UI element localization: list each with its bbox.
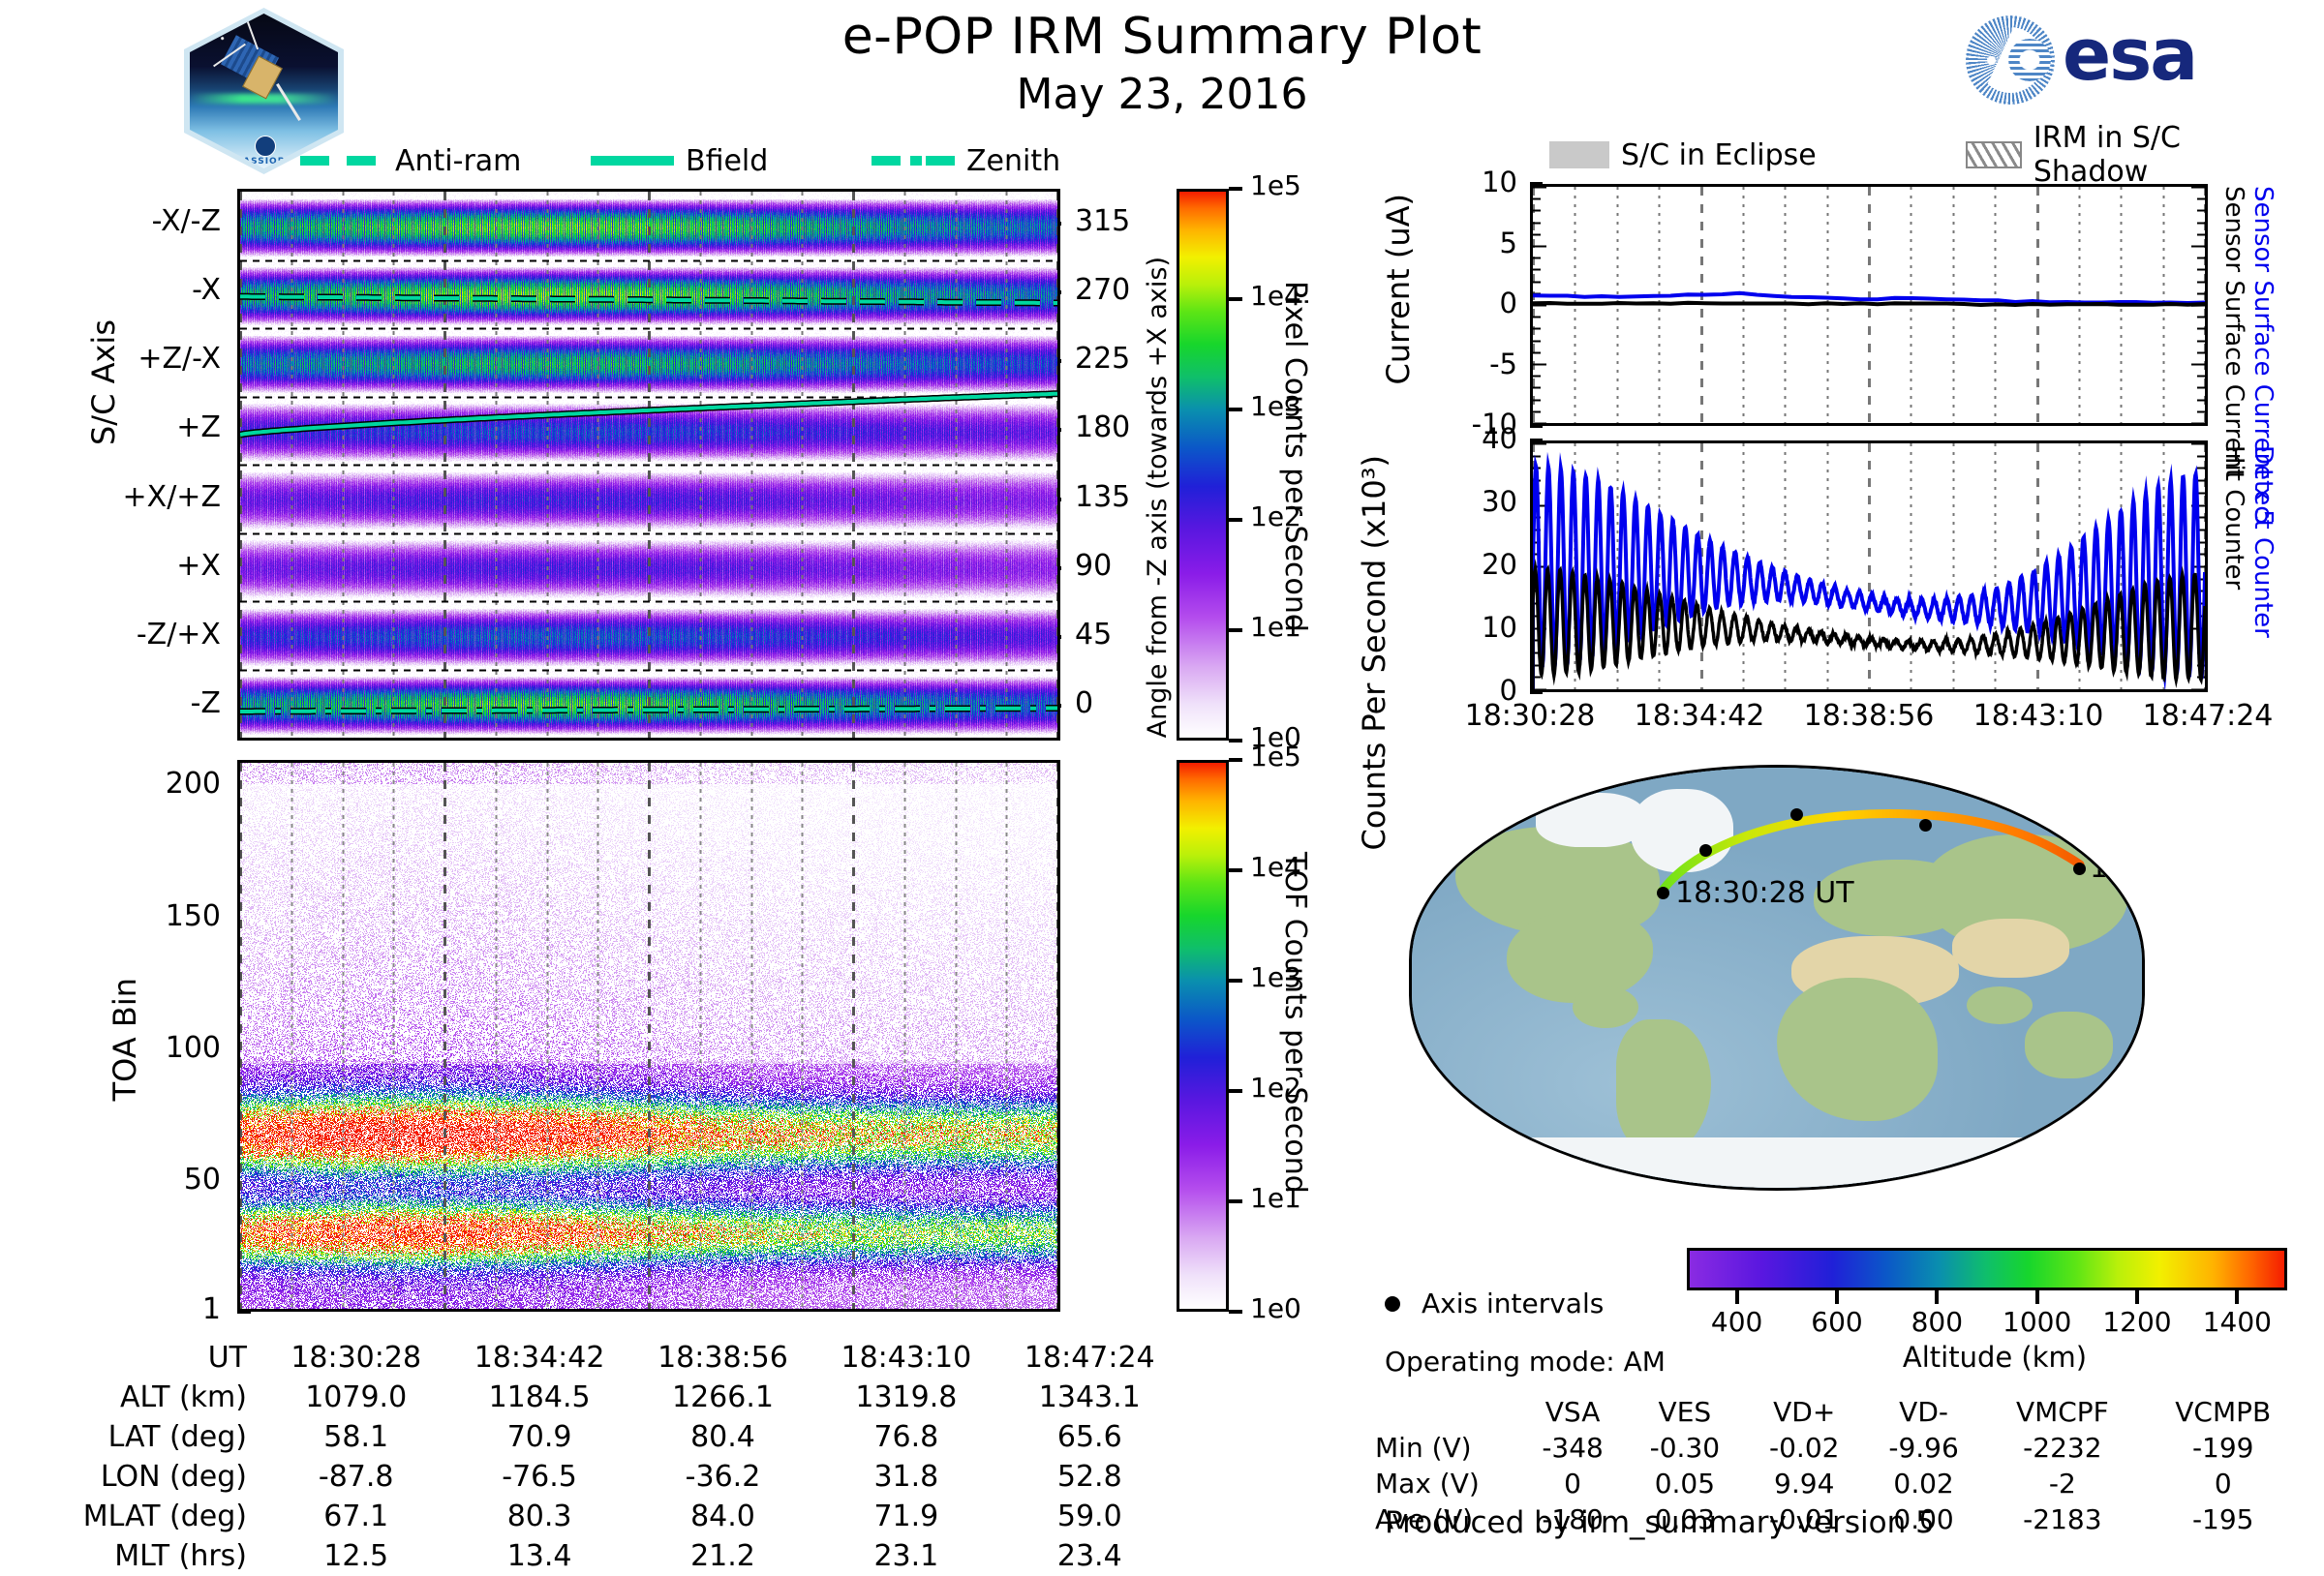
toa-ytick: 100 — [0, 1031, 221, 1065]
pixel-counts-colorbar-label: Pixel Counts per Second — [1278, 281, 1312, 632]
spectrogram-ytick-left: -X/-Z — [0, 204, 221, 238]
table-cell: 13.4 — [447, 1536, 630, 1576]
tof-counts-colorbar-label: TOF Counts per Second — [1278, 852, 1312, 1194]
colorbar-tick — [1229, 628, 1242, 632]
map-interval-point — [1657, 887, 1669, 899]
current-ytick: 10 — [1409, 166, 1517, 198]
table-cell: 18:30:28 — [264, 1338, 447, 1378]
table-cell: 80.3 — [447, 1497, 630, 1536]
table-row: MLAT (deg)67.180.384.071.959.0 — [39, 1497, 1181, 1536]
voltage-column-header: VES — [1625, 1394, 1744, 1430]
legend-item-antiram: Anti-ram — [300, 141, 521, 180]
colorbar-tick — [1229, 739, 1242, 743]
toa-ytick: 1 — [0, 1292, 221, 1326]
gray-box-icon — [1549, 141, 1609, 168]
altitude-tick — [2135, 1290, 2139, 1304]
dash-dot-line-icon — [871, 156, 955, 166]
table-cell: 23.1 — [814, 1536, 997, 1576]
colorbar-tick — [1229, 1199, 1242, 1203]
altitude-colorbar-label: Altitude (km) — [1695, 1341, 2295, 1374]
voltage-column-header — [1375, 1394, 1520, 1430]
table-cell: -199 — [2141, 1430, 2305, 1466]
legend-label-eclipse: S/C in Eclipse — [1621, 138, 1817, 172]
altitude-tick-label: 1400 — [2188, 1306, 2285, 1338]
angle-spectrogram-panel[interactable] — [237, 189, 1060, 741]
colorbar-tick — [1229, 868, 1242, 872]
table-cell: 18:34:42 — [447, 1338, 630, 1378]
legend-label-bfield: Bfield — [686, 144, 768, 178]
axis-intervals-legend: Axis intervals — [1385, 1288, 1604, 1319]
altitude-colorbar — [1687, 1248, 2287, 1290]
colorbar-tick-label: 1e5 — [1250, 741, 1301, 773]
operating-mode-label: Operating mode: AM — [1385, 1346, 1666, 1378]
table-cell: 71.9 — [814, 1497, 997, 1536]
row-label: LAT (deg) — [39, 1417, 264, 1457]
spectrogram-ytick-right: 225 — [1075, 342, 1143, 376]
counts-xtick: 18:47:24 — [2101, 699, 2314, 733]
table-cell: 18:43:10 — [814, 1338, 997, 1378]
altitude-tick-label: 1000 — [1989, 1306, 2086, 1338]
table-cell: 18:47:24 — [998, 1338, 1181, 1378]
table-cell: 0 — [2141, 1466, 2305, 1501]
produced-by-label: Produced by irm_summary version 5 — [1385, 1505, 1935, 1540]
map-interval-point — [1699, 844, 1712, 857]
ground-track-map[interactable]: 18:30:28 UT 18:47:24 UT — [1409, 765, 2145, 1191]
spectrogram-ytick-left: +Z/-X — [0, 342, 221, 376]
altitude-tick — [1835, 1290, 1839, 1304]
spectrogram-ytick-left: -Z — [0, 686, 221, 720]
table-cell: 18:38:56 — [631, 1338, 814, 1378]
colorbar-tick — [1229, 518, 1242, 522]
toa-ytick: 200 — [0, 767, 221, 801]
row-label: Max (V) — [1375, 1466, 1520, 1501]
table-cell: -2 — [1983, 1466, 2141, 1501]
row-label: LON (deg) — [39, 1457, 264, 1497]
colorbar-tick — [1229, 758, 1242, 762]
spectrogram-ytick-right: 135 — [1075, 480, 1143, 514]
table-cell: -9.96 — [1864, 1430, 1983, 1466]
table-cell: 12.5 — [264, 1536, 447, 1576]
legend-item-shadow: IRM in S/C Shadow — [1966, 136, 2285, 174]
table-cell: -0.30 — [1625, 1430, 1744, 1466]
spectrogram-ytick-left: +X — [0, 549, 221, 583]
voltage-column-header: VSA — [1520, 1394, 1625, 1430]
spectrogram-ytick-right: 270 — [1075, 273, 1143, 307]
spectrogram-ytick-right: 45 — [1075, 618, 1143, 652]
current-right-label: Sensor Surface Current — [2219, 186, 2248, 478]
altitude-tick-label: 800 — [1888, 1306, 1985, 1338]
colorbar-tick — [1229, 297, 1242, 301]
table-cell: -2183 — [1983, 1501, 2141, 1537]
altitude-tick-label: 400 — [1689, 1306, 1786, 1338]
spectrogram-right-axis-label: Angle from -Z axis (towards +X axis) — [1143, 257, 1173, 738]
altitude-tick-label: 600 — [1789, 1306, 1885, 1338]
table-cell: 52.8 — [998, 1457, 1181, 1497]
table-row: MLT (hrs)12.513.421.223.123.4 — [39, 1536, 1181, 1576]
current-ytick: 0 — [1409, 287, 1517, 319]
orbit-parameters-table: UT18:30:2818:34:4218:38:5618:43:1018:47:… — [39, 1338, 1181, 1576]
table-cell: 9.94 — [1745, 1466, 1864, 1501]
altitude-tick — [2235, 1290, 2239, 1304]
page-title: e-POP IRM Summary Plot — [581, 8, 1743, 66]
dashed-line-icon — [300, 156, 383, 166]
table-cell: 67.1 — [264, 1497, 447, 1536]
counts-ytick: 40 — [1409, 422, 1517, 455]
counts-ytick: 20 — [1409, 548, 1517, 581]
orbit-track — [1412, 768, 2145, 1191]
table-row: Max (V)00.059.940.02-20 — [1375, 1466, 2305, 1501]
table-cell: 0 — [1520, 1466, 1625, 1501]
spectrogram-legend: Anti-ram Bfield Zenith — [271, 141, 968, 180]
map-interval-point — [1790, 808, 1803, 821]
axis-intervals-label: Axis intervals — [1422, 1288, 1604, 1319]
counts-ytick: 30 — [1409, 485, 1517, 518]
table-cell: 1319.8 — [814, 1378, 997, 1417]
legend-label-zenith: Zenith — [966, 144, 1060, 178]
table-cell: 59.0 — [998, 1497, 1181, 1536]
esa-logo-text: esa — [2063, 19, 2196, 91]
colorbar-tick-label: 1e0 — [1250, 1292, 1301, 1324]
table-row: LAT (deg)58.170.980.476.865.6 — [39, 1417, 1181, 1457]
row-label: MLT (hrs) — [39, 1536, 264, 1576]
row-label: MLAT (deg) — [39, 1497, 264, 1536]
table-row: UT18:30:2818:34:4218:38:5618:43:1018:47:… — [39, 1338, 1181, 1378]
legend-label-shadow: IRM in S/C Shadow — [2033, 121, 2285, 189]
table-cell: -87.8 — [264, 1457, 447, 1497]
colorbar-tick — [1229, 979, 1242, 983]
page-subtitle: May 23, 2016 — [581, 70, 1743, 119]
tof-counts-colorbar — [1177, 760, 1229, 1312]
table-cell: 21.2 — [631, 1536, 814, 1576]
dot-icon — [1385, 1296, 1400, 1312]
table-cell: -0.02 — [1745, 1430, 1864, 1466]
spectrogram-ytick-left: +X/+Z — [0, 480, 221, 514]
table-cell: 0.05 — [1625, 1466, 1744, 1501]
esa-logo: esa — [1966, 14, 2276, 106]
table-cell: 80.4 — [631, 1417, 814, 1457]
colorbar-tick — [1229, 1089, 1242, 1093]
table-row: LON (deg)-87.8-76.5-36.231.852.8 — [39, 1457, 1181, 1497]
voltage-column-header: VMCPF — [1983, 1394, 2141, 1430]
voltage-column-header: VCMPB — [2141, 1394, 2305, 1430]
table-row: ALT (km)1079.01184.51266.11319.81343.1 — [39, 1378, 1181, 1417]
colorbar-tick — [1229, 1310, 1242, 1314]
altitude-tick — [2035, 1290, 2039, 1304]
colorbar-tick — [1229, 408, 1242, 411]
table-cell: 65.6 — [998, 1417, 1181, 1457]
toa-ytick: 150 — [0, 899, 221, 933]
table-cell: -2232 — [1983, 1430, 2141, 1466]
table-cell: 31.8 — [814, 1457, 997, 1497]
map-label-end: 18:47:24 UT — [2090, 851, 2145, 885]
table-cell: 1343.1 — [998, 1378, 1181, 1417]
table-row: Min (V)-348-0.30-0.02-9.96-2232-199 — [1375, 1430, 2305, 1466]
current-ytick: 5 — [1409, 227, 1517, 259]
legend-item-eclipse: S/C in Eclipse — [1549, 136, 1817, 174]
counts-right-label-detect: Detect Counter — [2248, 445, 2278, 638]
legend-item-bfield: Bfield — [591, 141, 768, 180]
altitude-tick — [1935, 1290, 1939, 1304]
counts-plot-panel[interactable] — [1530, 440, 2208, 692]
counts-ylabel: Counts Per Second (x10³) — [1356, 455, 1392, 850]
voltage-column-header: VD+ — [1745, 1394, 1864, 1430]
toa-ytick: 50 — [0, 1163, 221, 1197]
spectrogram-ytick-left: +Z — [0, 410, 221, 444]
hatched-box-icon — [1966, 141, 2022, 168]
table-cell: 76.8 — [814, 1417, 997, 1457]
table-cell: -36.2 — [631, 1457, 814, 1497]
table-cell: -348 — [1520, 1430, 1625, 1466]
table-cell: -195 — [2141, 1501, 2305, 1537]
row-label: UT — [39, 1338, 264, 1378]
table-cell: 0.02 — [1864, 1466, 1983, 1501]
map-interval-point — [1919, 819, 1932, 832]
pixel-counts-colorbar — [1177, 189, 1229, 741]
legend-label-antiram: Anti-ram — [395, 144, 521, 178]
row-label: Min (V) — [1375, 1430, 1520, 1466]
solid-line-icon — [591, 156, 674, 166]
row-label: ALT (km) — [39, 1378, 264, 1417]
table-cell: 84.0 — [631, 1497, 814, 1536]
table-cell: 1184.5 — [447, 1378, 630, 1417]
map-label-start: 18:30:28 UT — [1675, 876, 1854, 910]
colorbar-tick-label: 1e5 — [1250, 169, 1301, 201]
voltage-column-header: VD- — [1864, 1394, 1983, 1430]
altitude-tick — [1735, 1290, 1739, 1304]
spectrogram-ytick-left: -X — [0, 273, 221, 307]
counts-ytick: 10 — [1409, 611, 1517, 644]
legend-item-zenith: Zenith — [871, 141, 1060, 180]
spectrogram-ytick-right: 90 — [1075, 549, 1143, 583]
spectrogram-ytick-left: -Z/+X — [0, 618, 221, 652]
spectrogram-ytick-right: 0 — [1075, 686, 1143, 720]
current-plot-panel[interactable] — [1530, 184, 2208, 426]
spectrogram-ytick-right: 180 — [1075, 410, 1143, 444]
table-cell: 58.1 — [264, 1417, 447, 1457]
spectrogram-ytick-right: 315 — [1075, 204, 1143, 238]
table-cell: 1266.1 — [631, 1378, 814, 1417]
colorbar-tick — [1229, 187, 1242, 191]
table-cell: 23.4 — [998, 1536, 1181, 1576]
toa-spectrogram-panel[interactable] — [237, 760, 1060, 1312]
table-cell: 70.9 — [447, 1417, 630, 1457]
altitude-tick-label: 1200 — [2089, 1306, 2186, 1338]
eclipse-legend: S/C in Eclipse IRM in S/C Shadow — [1549, 136, 2285, 174]
table-cell: 1079.0 — [264, 1378, 447, 1417]
counts-right-label-hit: Hit Counter — [2219, 445, 2248, 590]
map-interval-point — [2073, 863, 2086, 875]
table-cell: -76.5 — [447, 1457, 630, 1497]
current-ytick: -5 — [1409, 348, 1517, 380]
